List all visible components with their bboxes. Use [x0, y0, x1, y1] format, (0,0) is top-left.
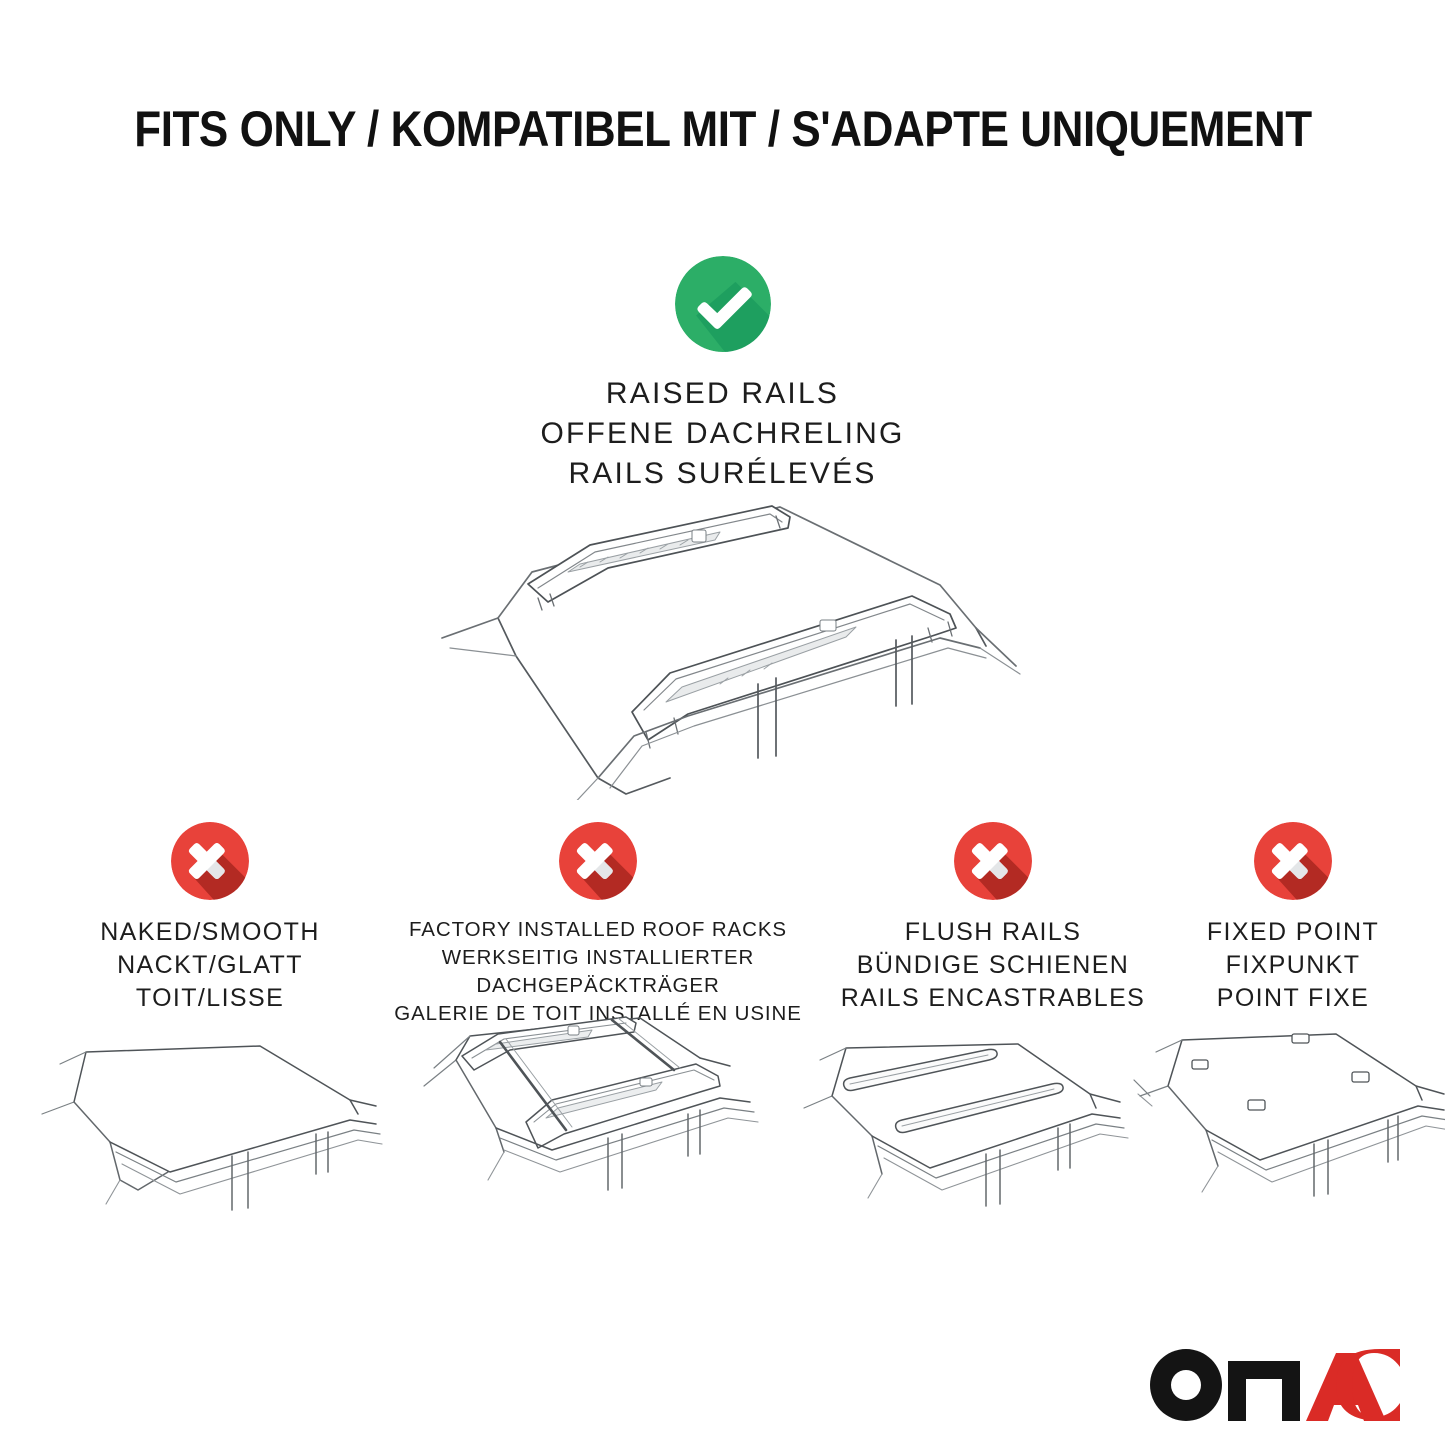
label-de: NACKT/GLATT	[55, 949, 365, 982]
incompatible-column-factory-roof-racks: FACTORY INSTALLED ROOF RACKS WERKSEITIG …	[392, 822, 804, 1028]
car-roof-raised-rails-illustration	[420, 488, 1040, 800]
incompatible-labels-fixed-point: FIXED POINT FIXPUNKT POINT FIXE	[1148, 916, 1438, 1015]
page-title: FITS ONLY / KOMPATIBEL MIT / S'ADAPTE UN…	[0, 102, 1445, 157]
label-en: FACTORY INSTALLED ROOF RACKS	[392, 916, 804, 944]
incompatible-column-fixed-point: FIXED POINT FIXPUNKT POINT FIXE	[1148, 822, 1438, 1015]
label-de: FIXPUNKT	[1148, 949, 1438, 982]
compatibility-infographic: FITS ONLY / KOMPATIBEL MIT / S'ADAPTE UN…	[0, 0, 1445, 1445]
car-roof-factory-racks-illustration	[400, 1008, 764, 1254]
label-en: NAKED/SMOOTH	[55, 916, 365, 949]
green-check-icon	[675, 256, 771, 352]
label-fr: RAILS ENCASTRABLES	[838, 982, 1148, 1015]
incompatible-column-flush-rails: FLUSH RAILS BÜNDIGE SCHIENEN RAILS ENCAS…	[838, 822, 1148, 1015]
car-roof-fixed-point-illustration	[1130, 1020, 1445, 1254]
label-en: FIXED POINT	[1148, 916, 1438, 949]
compatible-section: RAISED RAILS OFFENE DACHRELING RAILS SUR…	[0, 256, 1445, 494]
car-roof-flush-rails-illustration	[790, 1022, 1154, 1254]
label-de-2: DACHGEPÄCKTRÄGER	[392, 972, 804, 1000]
label-de-1: WERKSEITIG INSTALLIERTER	[392, 944, 804, 972]
red-x-icon	[1254, 822, 1332, 900]
omac-logo	[1148, 1347, 1408, 1421]
compatible-labels: RAISED RAILS OFFENE DACHRELING RAILS SUR…	[0, 374, 1445, 494]
compatible-label-en: RAISED RAILS	[0, 374, 1445, 414]
red-x-icon	[559, 822, 637, 900]
label-fr: TOIT/LISSE	[55, 982, 365, 1015]
red-x-icon	[954, 822, 1032, 900]
incompatible-labels-naked-smooth: NAKED/SMOOTH NACKT/GLATT TOIT/LISSE	[55, 916, 365, 1015]
incompatible-labels-flush-rails: FLUSH RAILS BÜNDIGE SCHIENEN RAILS ENCAS…	[838, 916, 1148, 1015]
incompatible-section: NAKED/SMOOTH NACKT/GLATT TOIT/LISSE FACT…	[0, 822, 1445, 1022]
page-title-text: FITS ONLY / KOMPATIBEL MIT / S'ADAPTE UN…	[134, 102, 1311, 157]
red-x-icon	[171, 822, 249, 900]
label-de: BÜNDIGE SCHIENEN	[838, 949, 1148, 982]
label-en: FLUSH RAILS	[838, 916, 1148, 949]
car-roof-naked-smooth-illustration	[20, 1022, 384, 1254]
compatible-label-de: OFFENE DACHRELING	[0, 414, 1445, 454]
incompatible-column-naked-smooth: NAKED/SMOOTH NACKT/GLATT TOIT/LISSE	[55, 822, 365, 1015]
label-fr: POINT FIXE	[1148, 982, 1438, 1015]
